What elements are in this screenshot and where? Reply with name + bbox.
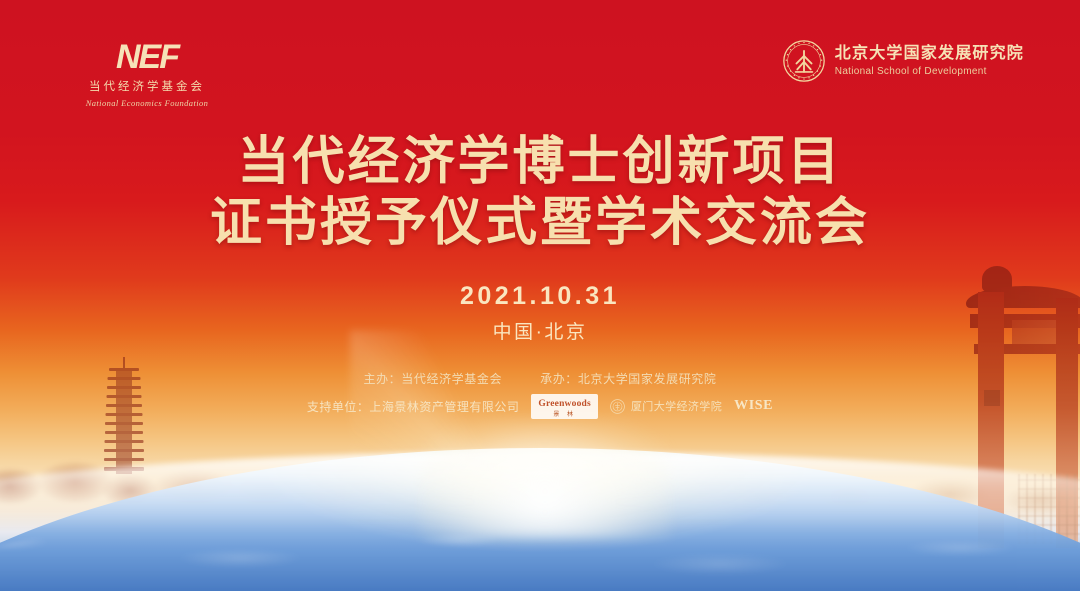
nsd-name-en: National School of Development	[835, 66, 1024, 79]
sunrise-glow	[420, 418, 670, 538]
nef-name-cn: 当代经济学基金会	[72, 80, 222, 95]
peking-university-seal-icon	[783, 40, 825, 82]
title-line-2: 证书授予仪式暨学术交流会	[0, 193, 1080, 254]
nef-monogram-icon: NEF	[72, 40, 222, 74]
greenwoods-name-en: Greenwoods	[538, 399, 591, 409]
left-treeline	[0, 452, 400, 522]
greenwoods-logo: Greenwoods 景 林	[531, 394, 598, 419]
nef-logo: NEF 当代经济学基金会 National Economics Foundati…	[72, 40, 222, 108]
earth-terrain	[0, 498, 1080, 591]
xiamen-university-seal-icon	[610, 399, 625, 414]
xmu-name-cn: 厦门大学经济学院	[631, 398, 722, 414]
host-label: 主办：当代经济学基金会	[363, 370, 502, 387]
wise-wordmark: WISE	[734, 398, 773, 414]
poster-title: 当代经济学博士创新项目 证书授予仪式暨学术交流会	[0, 132, 1080, 255]
nsd-name-cn: 北京大学国家发展研究院	[835, 44, 1024, 64]
nsd-logo: 北京大学国家发展研究院 National School of Developme…	[783, 40, 1024, 82]
nef-name-en: National Economics Foundation	[72, 98, 222, 108]
event-location: 中国·北京	[0, 317, 1080, 344]
title-line-1: 当代经济学博士创新项目	[0, 132, 1080, 193]
supporters-row: 支持单位：上海景林资产管理有限公司 Greenwoods 景 林 厦门大学经济学…	[0, 394, 1080, 419]
xmu-economics-logo: 厦门大学经济学院	[610, 398, 722, 414]
atmosphere-glow	[0, 452, 1080, 532]
coorganizer-label: 承办：北京大学国家发展研究院	[540, 370, 716, 387]
greenwoods-name-cn: 景 林	[538, 412, 591, 418]
right-treeline	[700, 462, 1080, 526]
credits-block: 主办：当代经济学基金会 承办：北京大学国家发展研究院 支持单位：上海景林资产管理…	[0, 370, 1080, 419]
earth-globe	[0, 448, 1080, 591]
event-poster: NEF 当代经济学基金会 National Economics Foundati…	[0, 0, 1080, 591]
event-date: 2021.10.31	[0, 282, 1080, 311]
supporters-label: 支持单位：上海景林资产管理有限公司	[307, 398, 520, 415]
sunburst-rays	[350, 330, 730, 550]
event-datetime-block: 2021.10.31 中国·北京	[0, 282, 1080, 344]
organizer-row: 主办：当代经济学基金会 承办：北京大学国家发展研究院	[0, 370, 1080, 387]
